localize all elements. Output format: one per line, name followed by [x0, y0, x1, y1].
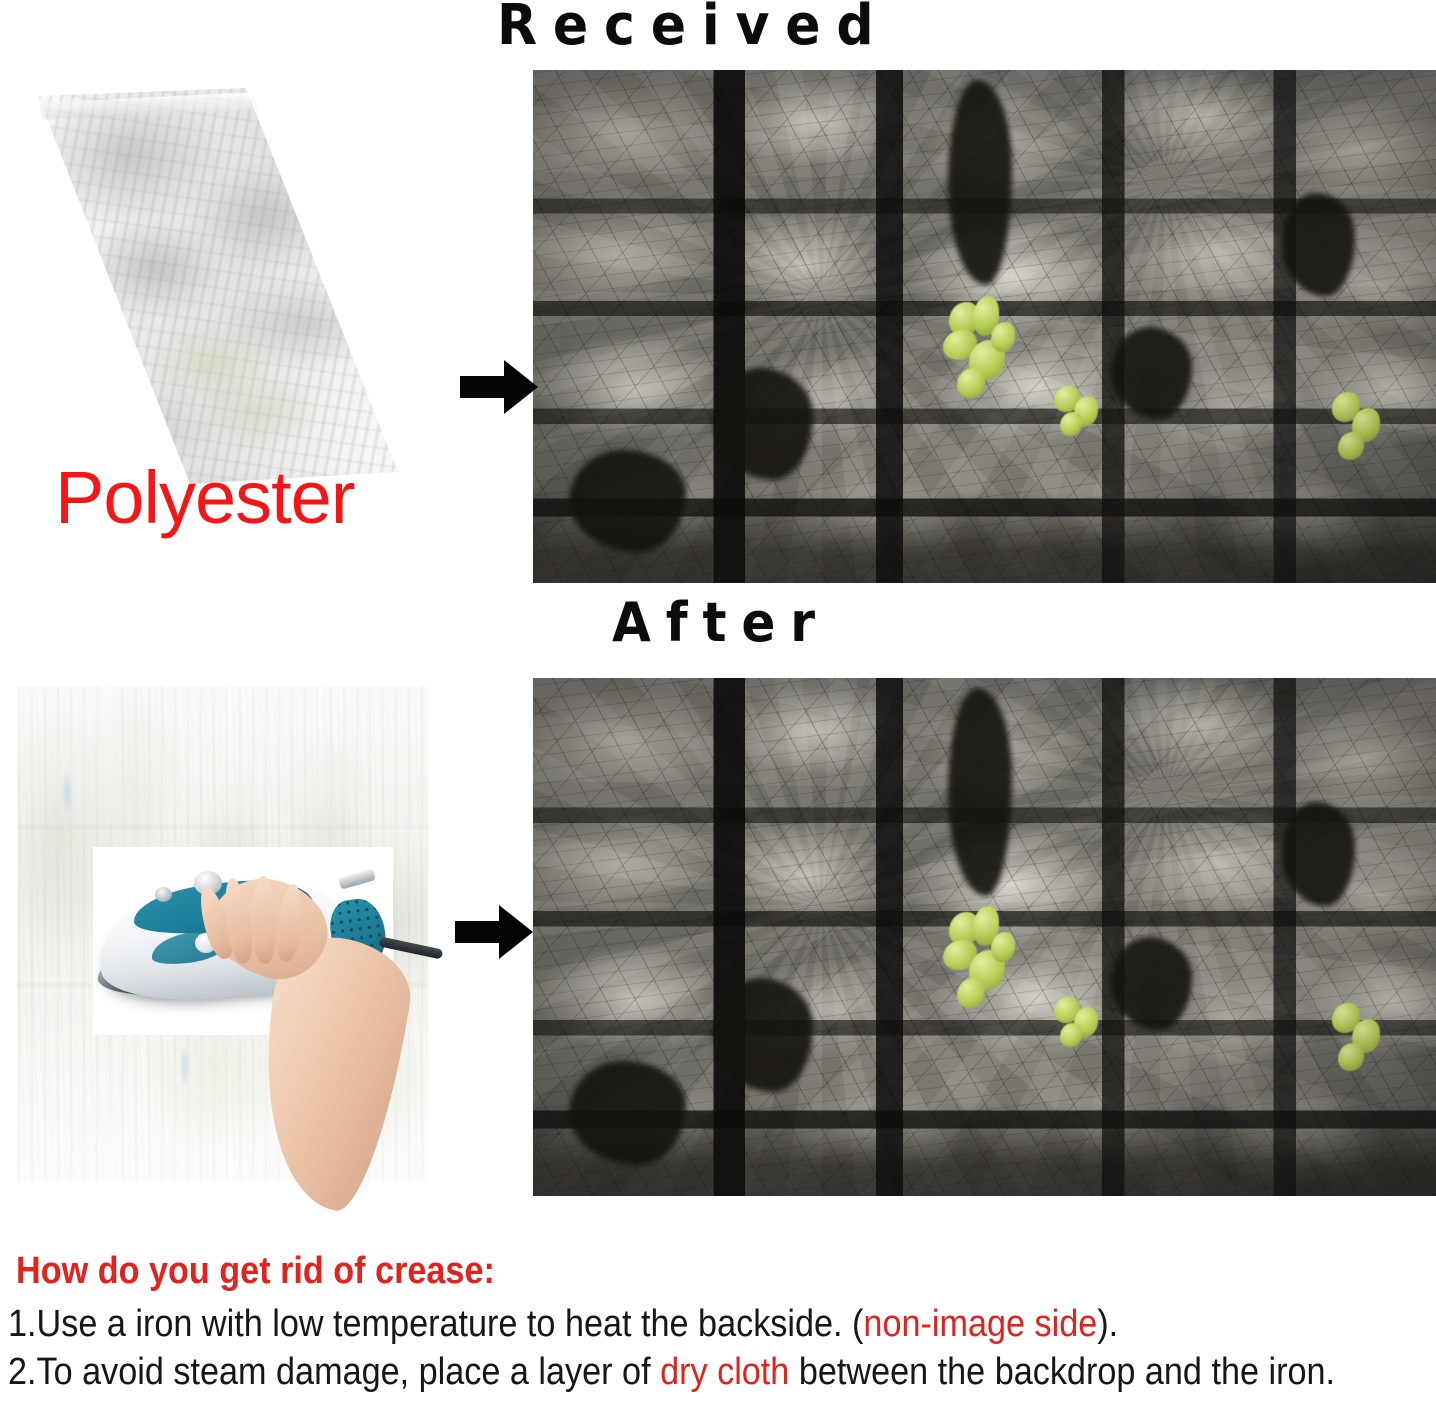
- after-title: After: [612, 596, 830, 650]
- polyester-fabric-fold-image: [18, 84, 418, 484]
- after-rock-backdrop-photo: [533, 678, 1436, 1196]
- instruction-2-suffix: between the backdrop and the iron.: [789, 1351, 1335, 1393]
- received-title: Received: [497, 0, 890, 54]
- instruction-1-prefix: 1.Use a iron with low temperature to hea…: [8, 1303, 863, 1345]
- crease-instructions-heading: How do you get rid of crease:: [16, 1252, 495, 1290]
- hand-pressing-iron: [210, 880, 470, 1210]
- instruction-line-2: 2.To avoid steam damage, place a layer o…: [8, 1353, 1335, 1391]
- polyester-label: Polyester: [55, 461, 354, 535]
- rock-vignette: [533, 70, 1436, 583]
- right-arrow-icon: [455, 903, 533, 966]
- iron-spray-button: [155, 887, 172, 902]
- rock-vignette: [533, 678, 1436, 1196]
- received-rock-backdrop-photo: [533, 70, 1436, 583]
- instruction-line-1: 1.Use a iron with low temperature to hea…: [8, 1305, 1118, 1343]
- instruction-1-suffix: ).: [1097, 1303, 1118, 1345]
- fabric-shading: [26, 92, 410, 484]
- right-arrow-icon: [460, 358, 538, 421]
- instruction-1-highlight: non-image side: [863, 1303, 1097, 1345]
- instruction-2-highlight: dry cloth: [660, 1351, 789, 1393]
- instruction-2-prefix: 2.To avoid steam damage, place a layer o…: [8, 1351, 660, 1393]
